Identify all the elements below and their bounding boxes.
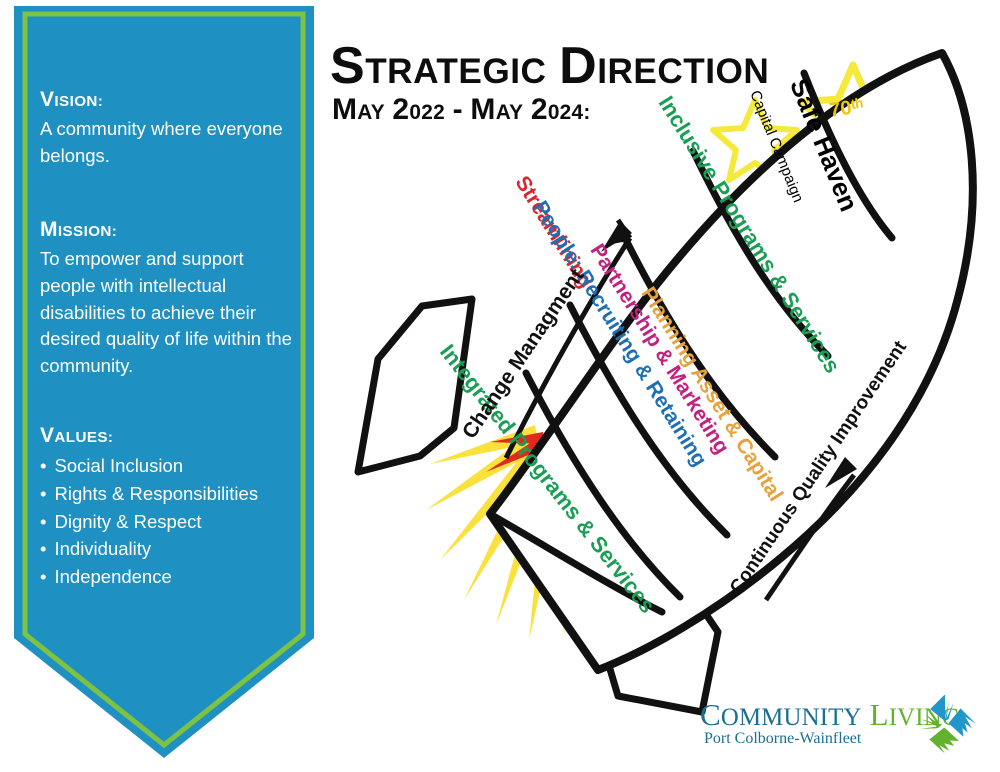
vision-body: A community where everyone belongs.	[40, 116, 298, 170]
list-item: Dignity & Respect	[40, 508, 298, 536]
rocket-diagram: Safe Haven Capital Campaign Inclusive Pr…	[330, 40, 1000, 740]
values-list: Social Inclusion Rights & Responsibiliti…	[40, 452, 298, 591]
sidebar-banner: VISION: A community where everyone belon…	[14, 6, 314, 758]
rocket-artwork	[330, 40, 1000, 740]
rocket-fin-left	[358, 299, 472, 472]
poster-canvas: VISION: A community where everyone belon…	[0, 0, 1000, 772]
logo-burst-icon	[915, 695, 975, 753]
logo-tagline: Port Colborne-Wainfleet	[704, 730, 861, 748]
mission-heading: MISSION:	[40, 218, 298, 242]
values-heading: VALUES:	[40, 424, 298, 448]
list-item: Individuality	[40, 535, 298, 563]
mission-body: To empower and support people with intel…	[40, 246, 298, 380]
vision-heading: VISION:	[40, 88, 298, 112]
vision-block: VISION: A community where everyone belon…	[40, 88, 298, 170]
list-item: Rights & Responsibilities	[40, 480, 298, 508]
list-item: Social Inclusion	[40, 452, 298, 480]
logo-word-community: COMMUNITY	[700, 697, 862, 732]
mission-block: MISSION: To empower and support people w…	[40, 218, 298, 380]
list-item: Independence	[40, 563, 298, 591]
values-block: VALUES: Social Inclusion Rights & Respon…	[40, 424, 298, 591]
organization-logo: COMMUNITY LIVING Port Colborne-Wainfleet	[700, 697, 970, 755]
